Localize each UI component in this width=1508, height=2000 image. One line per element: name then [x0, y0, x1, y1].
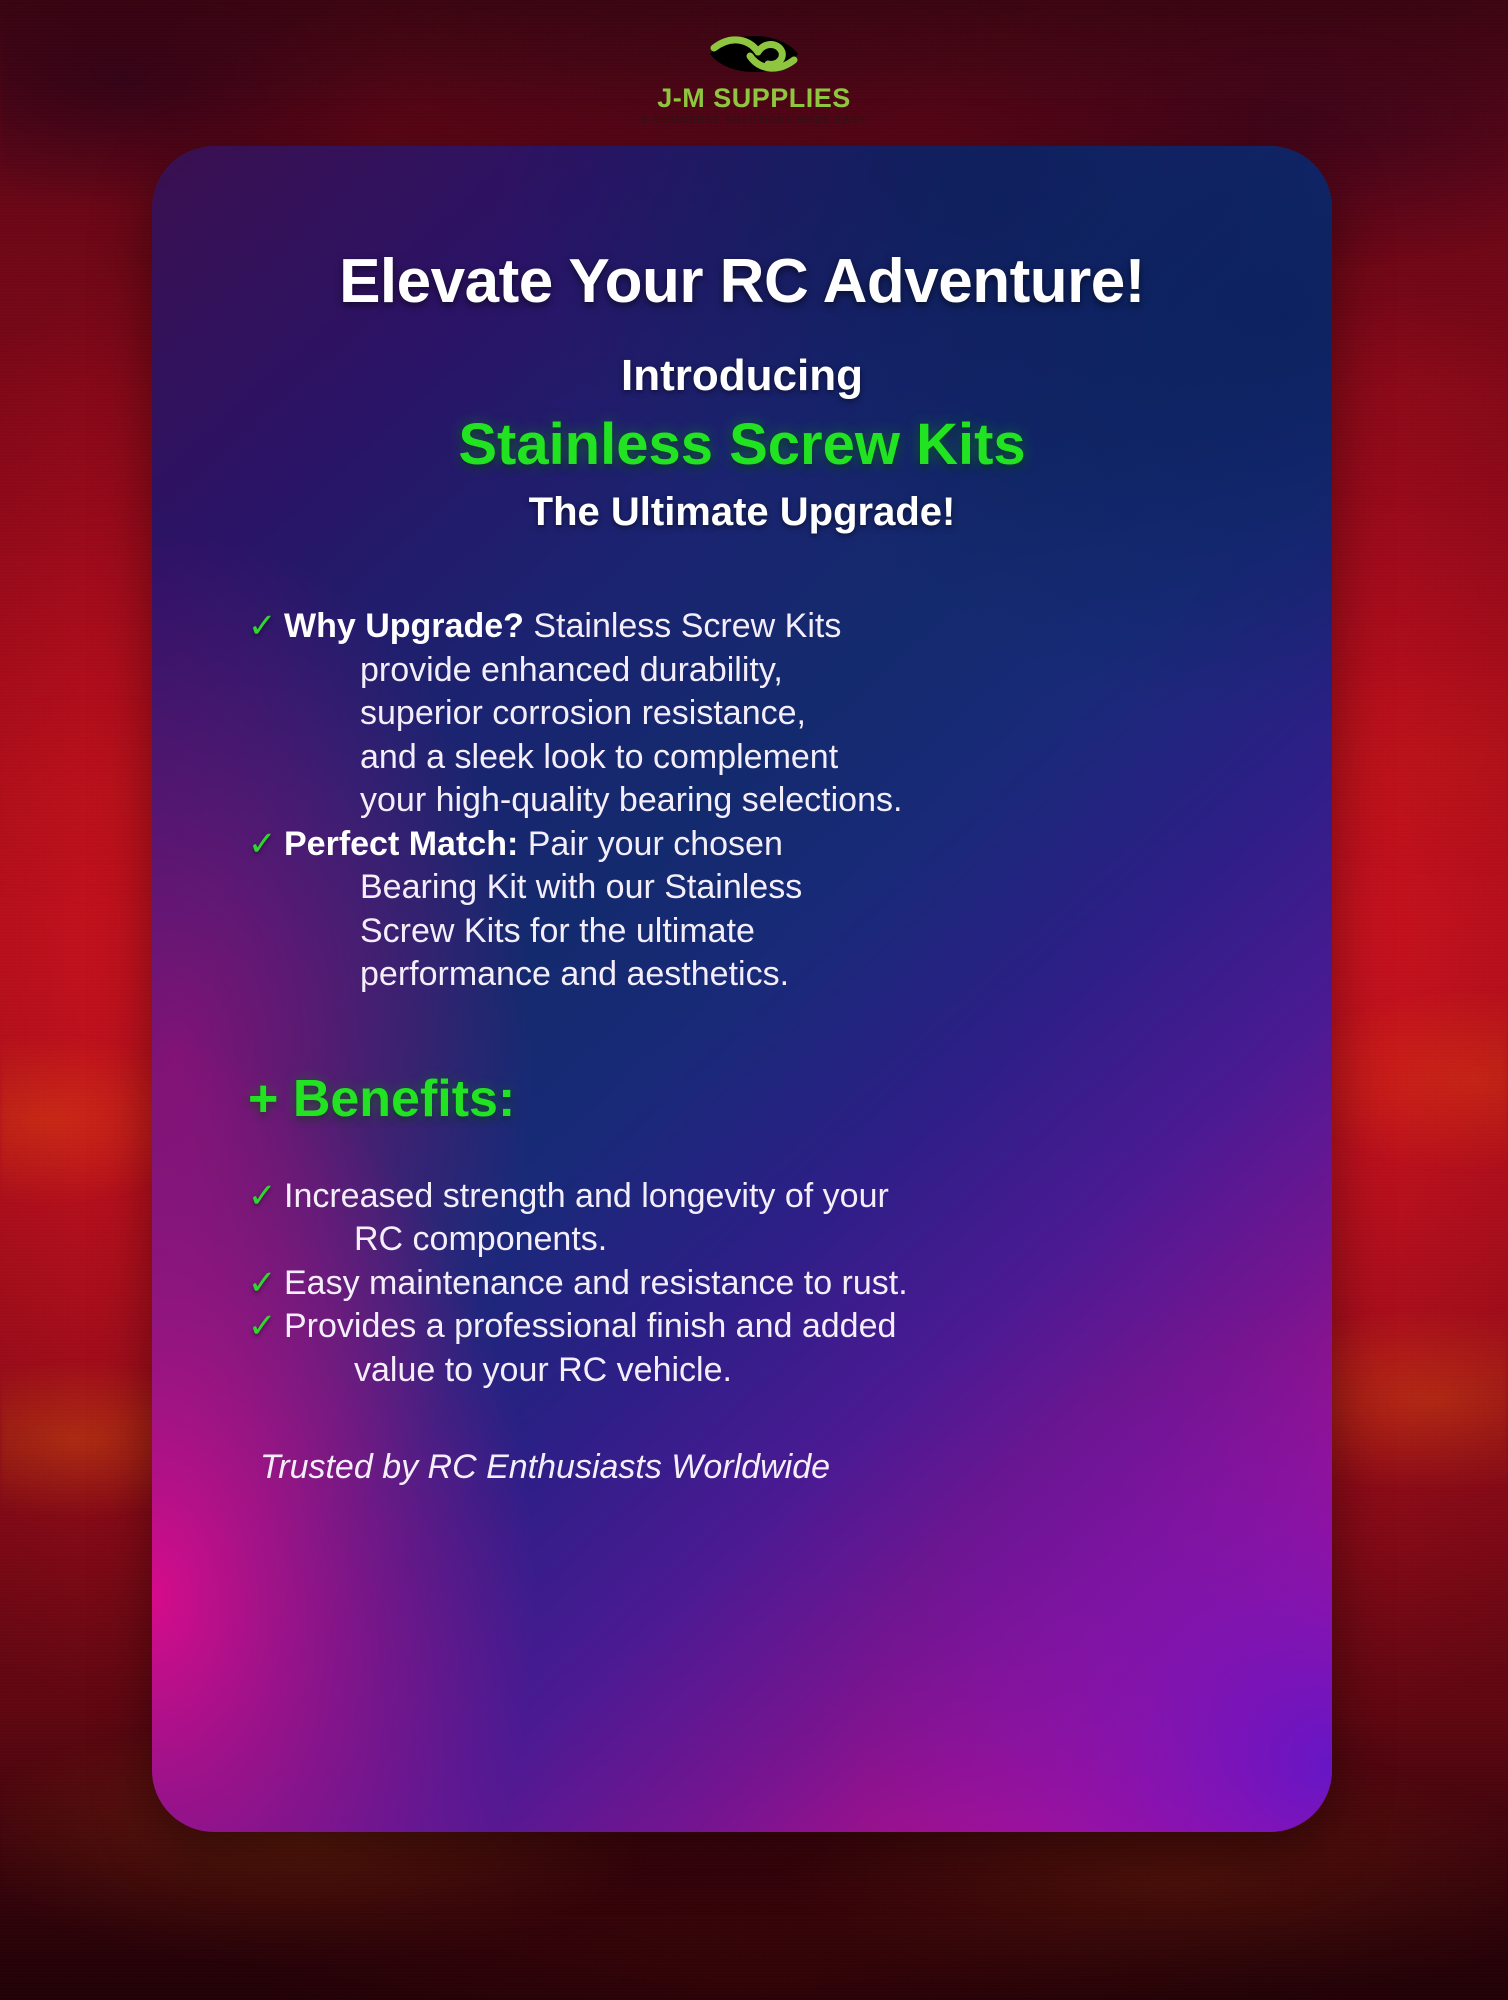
benefits-heading: + Benefits:: [248, 1069, 515, 1129]
card-content: Elevate Your RC Adventure! Introducing S…: [152, 146, 1332, 1832]
feature-label: Why Upgrade?: [284, 607, 524, 645]
benefit-body: Easy maintenance and resistance to rust.: [284, 1262, 908, 1306]
list-item: ✓ Perfect Match: Pair your chosen Bearin…: [248, 823, 1262, 997]
list-item: ✓ Increased strength and longevity of yo…: [248, 1175, 1262, 1262]
feature-label: Perfect Match:: [284, 825, 518, 863]
feature-line-1: Pair your chosen: [518, 825, 783, 863]
feature-line-5: your high-quality bearing selections.: [284, 779, 902, 823]
eye-logo-icon: [706, 26, 802, 82]
poster-canvas: J-M SUPPLIES E-COMMERCE SOLUTIONS MADE E…: [0, 0, 1508, 2000]
feature-list: ✓ Why Upgrade? Stainless Screw Kits prov…: [222, 605, 1262, 997]
check-icon: ✓: [248, 1175, 284, 1219]
list-item: ✓ Why Upgrade? Stainless Screw Kits prov…: [248, 605, 1262, 823]
feature-body: Why Upgrade? Stainless Screw Kits provid…: [284, 605, 902, 823]
list-item: ✓ Easy maintenance and resistance to rus…: [248, 1262, 1262, 1306]
check-icon: ✓: [248, 605, 284, 649]
benefit-body: Provides a professional finish and added…: [284, 1305, 896, 1392]
feature-line-4: and a sleek look to complement: [284, 736, 902, 780]
page-title: Elevate Your RC Adventure!: [339, 246, 1145, 317]
benefit-line-1: Easy maintenance and resistance to rust.: [284, 1264, 908, 1302]
list-item: ✓ Provides a professional finish and add…: [248, 1305, 1262, 1392]
feature-line-3: superior corrosion resistance,: [284, 692, 902, 736]
feature-line-1: Stainless Screw Kits: [524, 607, 841, 645]
benefits-list: ✓ Increased strength and longevity of yo…: [222, 1175, 1262, 1393]
brand-tagline: E-COMMERCE SOLUTIONS MADE EASY: [641, 115, 867, 126]
product-name: Stainless Screw Kits: [458, 411, 1025, 478]
check-icon: ✓: [248, 1262, 284, 1306]
feature-line-2: provide enhanced durability,: [284, 649, 902, 693]
check-icon: ✓: [248, 823, 284, 867]
promo-card: Elevate Your RC Adventure! Introducing S…: [152, 146, 1332, 1832]
subheadline: The Ultimate Upgrade!: [529, 490, 956, 535]
check-icon: ✓: [248, 1305, 284, 1349]
footer-tagline: Trusted by RC Enthusiasts Worldwide: [260, 1448, 830, 1487]
feature-line-3: Screw Kits for the ultimate: [284, 910, 802, 954]
brand-wordmark: J-M SUPPLIES: [657, 83, 851, 114]
benefit-line-2: RC components.: [284, 1218, 889, 1262]
benefit-body: Increased strength and longevity of your…: [284, 1175, 889, 1262]
brand-header: J-M SUPPLIES E-COMMERCE SOLUTIONS MADE E…: [0, 26, 1508, 126]
feature-line-4: performance and aesthetics.: [284, 953, 802, 997]
benefit-line-1: Increased strength and longevity of your: [284, 1177, 889, 1215]
introducing-label: Introducing: [621, 351, 863, 401]
benefit-line-2: value to your RC vehicle.: [284, 1349, 896, 1393]
feature-line-2: Bearing Kit with our Stainless: [284, 866, 802, 910]
feature-body: Perfect Match: Pair your chosen Bearing …: [284, 823, 802, 997]
benefit-line-1: Provides a professional finish and added: [284, 1307, 896, 1345]
